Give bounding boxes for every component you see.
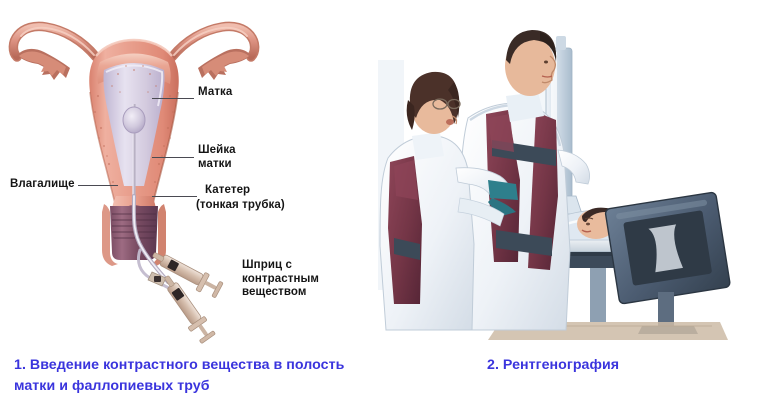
caption-step-2: 2. Рентгенография bbox=[487, 355, 747, 376]
label-syringe: Шприц с контрастным веществом bbox=[242, 259, 319, 300]
uterus-catheter-diagram: Матка Шейка матки Катетер (тонкая трубка… bbox=[0, 0, 400, 345]
label-cervix: Шейка матки bbox=[198, 144, 236, 171]
label-vagina: Влагалище bbox=[10, 178, 75, 192]
illustration-root: Матка Шейка матки Катетер (тонкая трубка… bbox=[0, 0, 768, 409]
leader-vagina bbox=[78, 185, 118, 186]
leader-uterus bbox=[152, 98, 194, 99]
leader-cervix bbox=[152, 157, 194, 158]
label-catheter-note: (тонкая трубка) bbox=[196, 199, 285, 213]
uterus-anatomy-svg bbox=[0, 0, 400, 345]
radiography-scene-svg bbox=[360, 0, 768, 345]
image-detector bbox=[605, 192, 731, 334]
left-fimbriae bbox=[17, 49, 70, 80]
label-uterus: Матка bbox=[198, 86, 232, 100]
leader-catheter bbox=[152, 196, 197, 197]
label-catheter: Катетер bbox=[205, 184, 250, 198]
radiography-scene bbox=[360, 0, 768, 345]
catheter-balloon bbox=[123, 107, 145, 133]
right-fimbriae bbox=[198, 49, 251, 80]
caption-step-1: 1. Введение контрастного вещества в поло… bbox=[14, 355, 354, 397]
